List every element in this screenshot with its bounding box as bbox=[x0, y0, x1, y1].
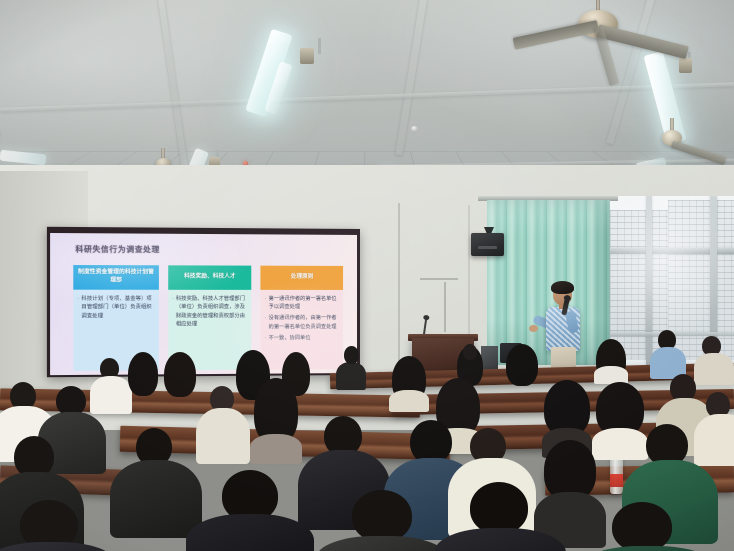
audience-hair bbox=[164, 352, 196, 397]
light-stem bbox=[318, 38, 321, 54]
bullet-text: 没有通讯作者的，由第一作者的第一署名单位负责调查处理 bbox=[269, 314, 339, 331]
audience-hair bbox=[128, 352, 158, 396]
ceiling-fan bbox=[518, 0, 678, 46]
audience-member bbox=[586, 502, 706, 551]
bullet-marker: · bbox=[265, 334, 267, 343]
audience-body bbox=[186, 514, 314, 551]
audience-head bbox=[344, 346, 359, 364]
slide-title: 科研失信行为调查处理 bbox=[75, 243, 160, 255]
slide-bullet: · 第一通讯作者的第一署名单位予以调查处理 bbox=[265, 295, 339, 312]
wall-conduit bbox=[444, 282, 446, 332]
projected-slide: 科研失信行为调查处理 制度性资金管理的科技计划管理部 · 科技计划（专项、基金等… bbox=[50, 233, 357, 375]
audience-head bbox=[612, 502, 672, 551]
audience-head bbox=[352, 490, 412, 542]
audience-member bbox=[128, 352, 158, 402]
audience-body bbox=[336, 362, 366, 390]
presenter bbox=[539, 283, 593, 375]
smoke-detector bbox=[411, 126, 418, 131]
audience-member bbox=[120, 428, 190, 532]
audience-head bbox=[470, 482, 528, 534]
slide-bullet: · 科技奖励、科技人才管理部门（单位）负责组织调查，涉及财政资金的管理和责权部分… bbox=[172, 295, 248, 329]
projection-screen: 科研失信行为调查处理 制度性资金管理的科技计划管理部 · 科技计划（专项、基金等… bbox=[47, 227, 360, 377]
wall-seam bbox=[468, 205, 470, 355]
wall-conduit bbox=[420, 278, 458, 280]
bullet-text: 科技奖励、科技人才管理部门（单位）负责组织调查，涉及财政资金的管理和责权部分由相… bbox=[176, 295, 248, 329]
bullet-marker: · bbox=[265, 295, 267, 312]
slide-column-header: 处理原则 bbox=[261, 266, 343, 290]
audience-member bbox=[252, 378, 300, 462]
wall-seam bbox=[398, 203, 400, 363]
bullet-text: 不一致，协同单位 bbox=[269, 334, 339, 343]
bullet-marker: · bbox=[265, 314, 267, 331]
audience-member bbox=[322, 490, 442, 551]
wall-mounted-speaker bbox=[471, 233, 504, 256]
audience-member bbox=[200, 386, 244, 462]
lecture-hall-photo: 科研失信行为调查处理 制度性资金管理的科技计划管理部 · 科技计划（专项、基金等… bbox=[0, 0, 734, 551]
slide-bullet: · 没有通讯作者的，由第一作者的第一署名单位负责调查处理 bbox=[265, 314, 339, 331]
audience-member bbox=[0, 500, 110, 551]
bottle-label bbox=[610, 474, 623, 487]
audience-hair bbox=[506, 344, 538, 386]
audience-body bbox=[316, 536, 448, 551]
ceiling-fan bbox=[612, 118, 732, 162]
fluorescent-tube-light bbox=[300, 48, 314, 64]
audience-member bbox=[392, 356, 426, 408]
bullet-text: 第一通讯作者的第一署名单位予以调查处理 bbox=[269, 295, 339, 312]
slide-bullet: · 科技计划（专项、基金等）项目管理部门（单位）负责组织调查处理 bbox=[77, 295, 154, 321]
slide-column-header: 科技奖励、科技人才 bbox=[168, 265, 252, 290]
slide-bullet: · 不一致，协同单位 bbox=[265, 334, 339, 343]
audience-body bbox=[434, 528, 566, 551]
audience-body bbox=[110, 460, 202, 538]
audience-member bbox=[650, 330, 684, 378]
audience-body bbox=[0, 542, 116, 551]
bullet-marker: · bbox=[77, 295, 79, 321]
audience-body bbox=[196, 408, 250, 464]
audience-member bbox=[442, 482, 558, 551]
audience-member bbox=[596, 336, 626, 380]
audience-body bbox=[250, 434, 302, 464]
bullet-marker: · bbox=[172, 295, 174, 329]
bullet-text: 科技计划（专项、基金等）项目管理部门（单位）负责组织调查处理 bbox=[81, 295, 154, 321]
audience-member bbox=[506, 342, 538, 386]
slide-column-header: 制度性资金管理的科技计划管理部 bbox=[73, 265, 158, 290]
audience-body bbox=[389, 390, 429, 412]
audience-member bbox=[196, 470, 304, 551]
presenter-hair bbox=[551, 281, 574, 294]
audience-member bbox=[164, 352, 196, 404]
audience-member bbox=[336, 346, 366, 386]
audience-body bbox=[580, 546, 716, 551]
audience-head bbox=[463, 344, 477, 360]
presenter-hand bbox=[529, 325, 538, 332]
fluorescent-tube-light bbox=[679, 58, 692, 73]
